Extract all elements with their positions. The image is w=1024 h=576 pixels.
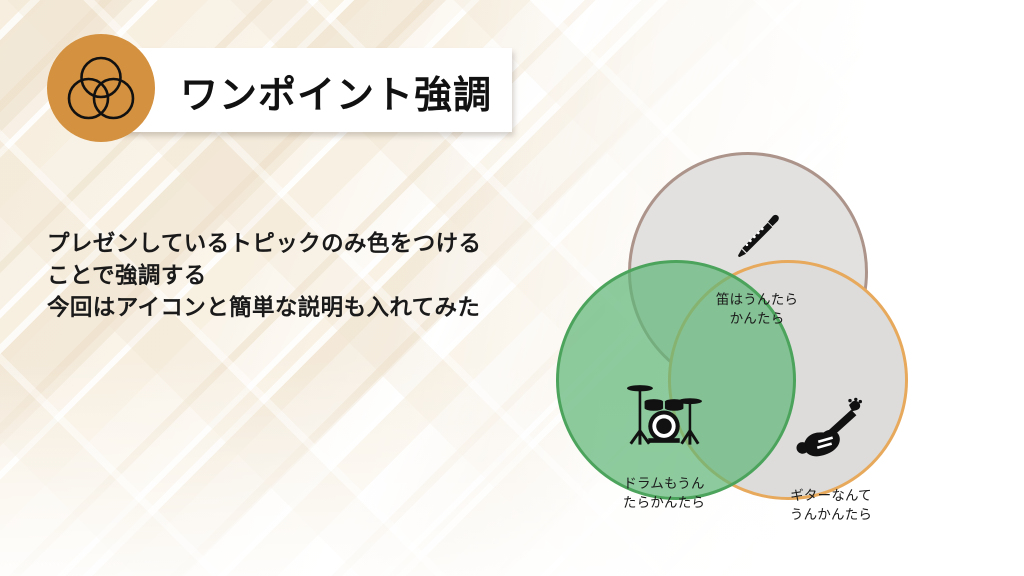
page-title: ワンポイント強調 <box>180 58 520 124</box>
venn-label-flute: 笛はうんたら かんたら <box>682 291 832 328</box>
header-badge <box>47 34 155 142</box>
slide-header: ワンポイント強調 <box>0 0 560 160</box>
venn-label-drums: ドラムもうん たらかんたら <box>584 475 744 512</box>
electric-guitar-icon <box>795 397 867 465</box>
venn-item-flute[interactable]: 笛はうんたら かんたら <box>682 188 832 347</box>
drum-kit-icon <box>623 379 705 453</box>
body-text: プレゼンしているトピックのみ色をつける ことで強調する 今回はアイコンと簡単な説… <box>47 228 547 324</box>
venn-item-guitar[interactable]: ギターなんて うんかんたら <box>756 378 906 543</box>
flute-icon <box>726 207 788 269</box>
venn-label-guitar: ギターなんて うんかんたら <box>756 487 906 524</box>
venn-diagram: 笛はうんたら かんたら <box>540 140 940 520</box>
slide-canvas: ワンポイント強調 プレゼンしているトピックのみ色をつける ことで強調する 今回は… <box>0 0 1024 576</box>
venn-three-circles-icon <box>47 34 155 142</box>
venn-item-drums[interactable]: ドラムもうん たらかんたら <box>584 360 744 531</box>
